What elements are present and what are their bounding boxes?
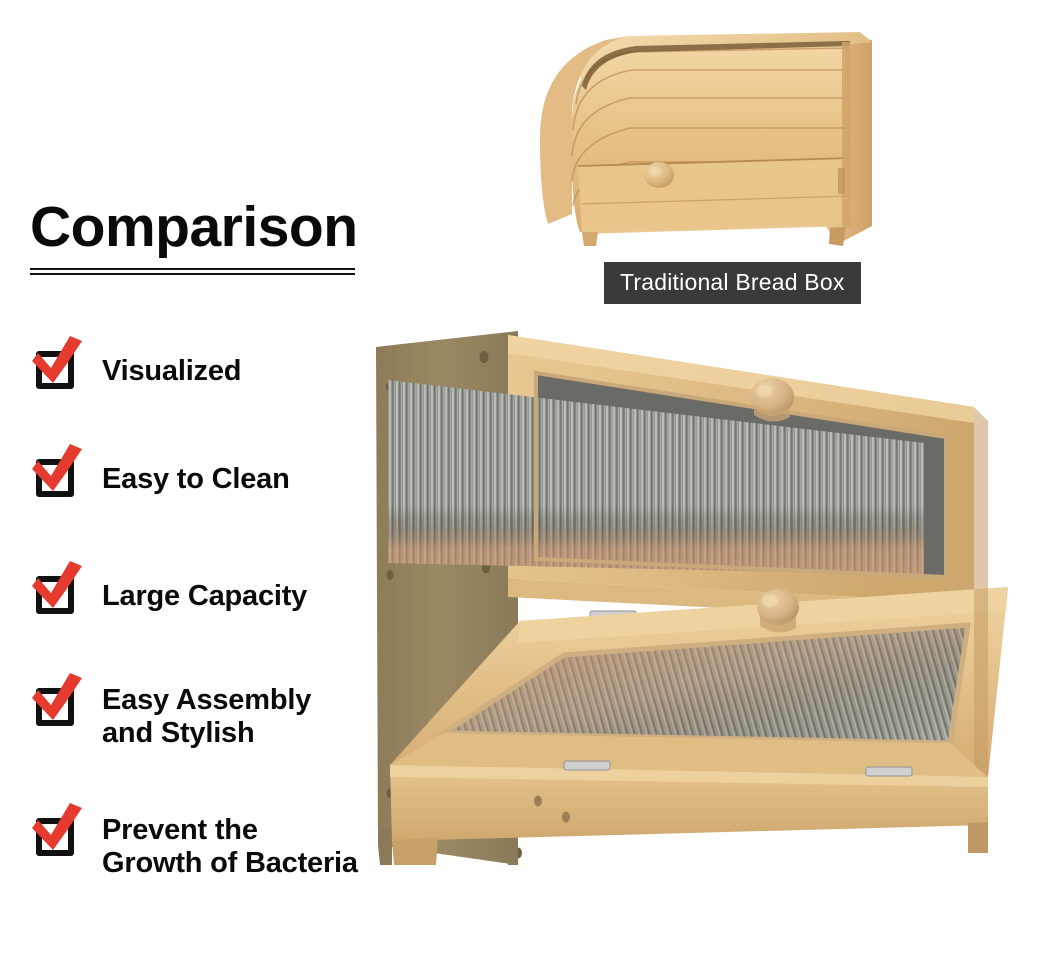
red-checkmark-icon	[28, 802, 86, 858]
list-item: Prevent the Growth of Bacteria	[28, 804, 408, 924]
traditional-product-caption: Traditional Bread Box	[604, 262, 861, 304]
list-item-label: Visualized	[86, 337, 408, 388]
list-item: Visualized	[28, 337, 408, 445]
base-foot	[392, 837, 438, 865]
list-item-label: Large Capacity	[86, 562, 408, 613]
red-checkmark-icon	[28, 672, 86, 728]
featured-breadbox-image	[368, 325, 1054, 900]
base-foot-right	[968, 822, 988, 853]
title-double-rule	[30, 268, 355, 275]
page-title: Comparison	[30, 198, 370, 256]
screw-hole	[562, 812, 570, 823]
hinge	[866, 767, 912, 776]
checkbox-checked	[28, 562, 86, 614]
list-item: Easy to Clean	[28, 445, 408, 562]
red-checkmark-icon	[28, 335, 86, 391]
right-edge	[974, 407, 988, 777]
checkbox-checked	[28, 445, 86, 497]
screw-hole	[480, 351, 489, 363]
trad-front-face	[578, 158, 851, 234]
checkbox-checked	[28, 674, 86, 726]
comparison-checklist: Visualized Easy to Clean Large Capacity	[28, 337, 408, 924]
checkbox-checked	[28, 804, 86, 856]
screw-hole	[387, 570, 394, 580]
list-item-label: Prevent the Growth of Bacteria	[86, 804, 408, 880]
red-checkmark-icon	[28, 443, 86, 499]
list-item: Large Capacity	[28, 562, 408, 674]
checkbox-checked	[28, 337, 86, 389]
screw-hole	[534, 796, 542, 807]
red-checkmark-icon	[28, 560, 86, 616]
traditional-breadbox-image	[520, 18, 910, 263]
title-block: Comparison	[30, 198, 370, 275]
list-item: Easy Assembly and Stylish	[28, 674, 408, 804]
infographic-canvas: Comparison Visualized Easy to Clean	[0, 0, 1056, 953]
hinge	[564, 761, 610, 770]
trad-hinge	[838, 168, 845, 194]
list-item-label: Easy to Clean	[86, 445, 408, 496]
list-item-label: Easy Assembly and Stylish	[86, 674, 408, 750]
trad-foot-right	[829, 227, 846, 246]
trad-foot-left	[582, 232, 598, 246]
